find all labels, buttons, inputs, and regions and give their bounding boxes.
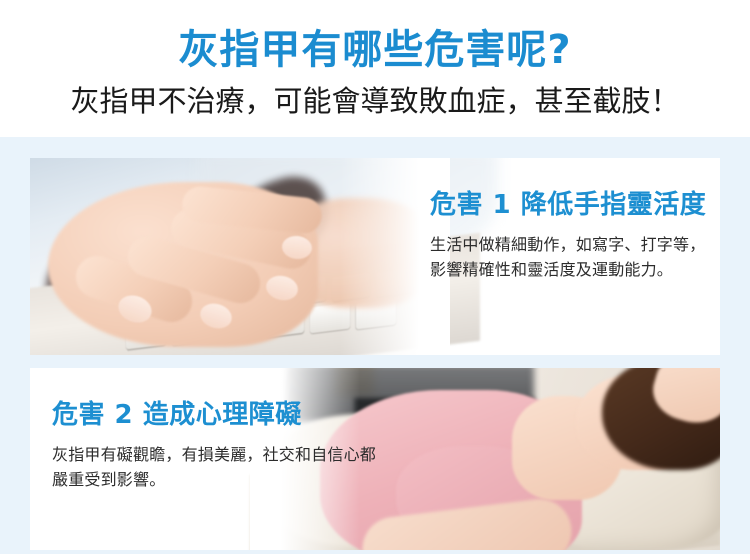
page-subtitle: 灰指甲不治療，可能會導致敗血症，甚至截肢！ [0, 82, 750, 120]
promo-page: 灰指甲有哪些危害呢? 灰指甲不治療，可能會導致敗血症，甚至截肢！ [0, 0, 750, 560]
harm-card-2: 危害 2 造成心理障礙 灰指甲有礙觀瞻，有損美麗，社交和自信心都嚴重受到影響。 [30, 368, 720, 550]
harm-card-1-text: 危害 1 降低手指靈活度 生活中做精細動作，如寫字、打字等，影響精確性和靈活度及… [430, 188, 708, 282]
harm-card-2-text: 危害 2 造成心理障礙 灰指甲有礙觀瞻，有損美麗，社交和自信心都嚴重受到影響。 [52, 398, 382, 492]
harm-card-2-body: 灰指甲有礙觀瞻，有損美麗，社交和自信心都嚴重受到影響。 [52, 442, 382, 492]
page-title: 灰指甲有哪些危害呢? [0, 24, 750, 76]
harm-card-1-heading: 危害 1 降低手指靈活度 [430, 188, 708, 222]
harm-card-1-body: 生活中做精細動作，如寫字、打字等，影響精確性和靈活度及運動能力。 [430, 232, 708, 282]
bottom-strip [0, 554, 750, 560]
page-header: 灰指甲有哪些危害呢? 灰指甲不治療，可能會導致敗血症，甚至截肢！ [0, 0, 750, 137]
harm-card-1: 危害 1 降低手指靈活度 生活中做精細動作，如寫字、打字等，影響精確性和靈活度及… [30, 158, 720, 355]
harm-card-2-heading: 危害 2 造成心理障礙 [52, 398, 382, 432]
hands-typing-on-keyboard-photo [30, 158, 450, 355]
